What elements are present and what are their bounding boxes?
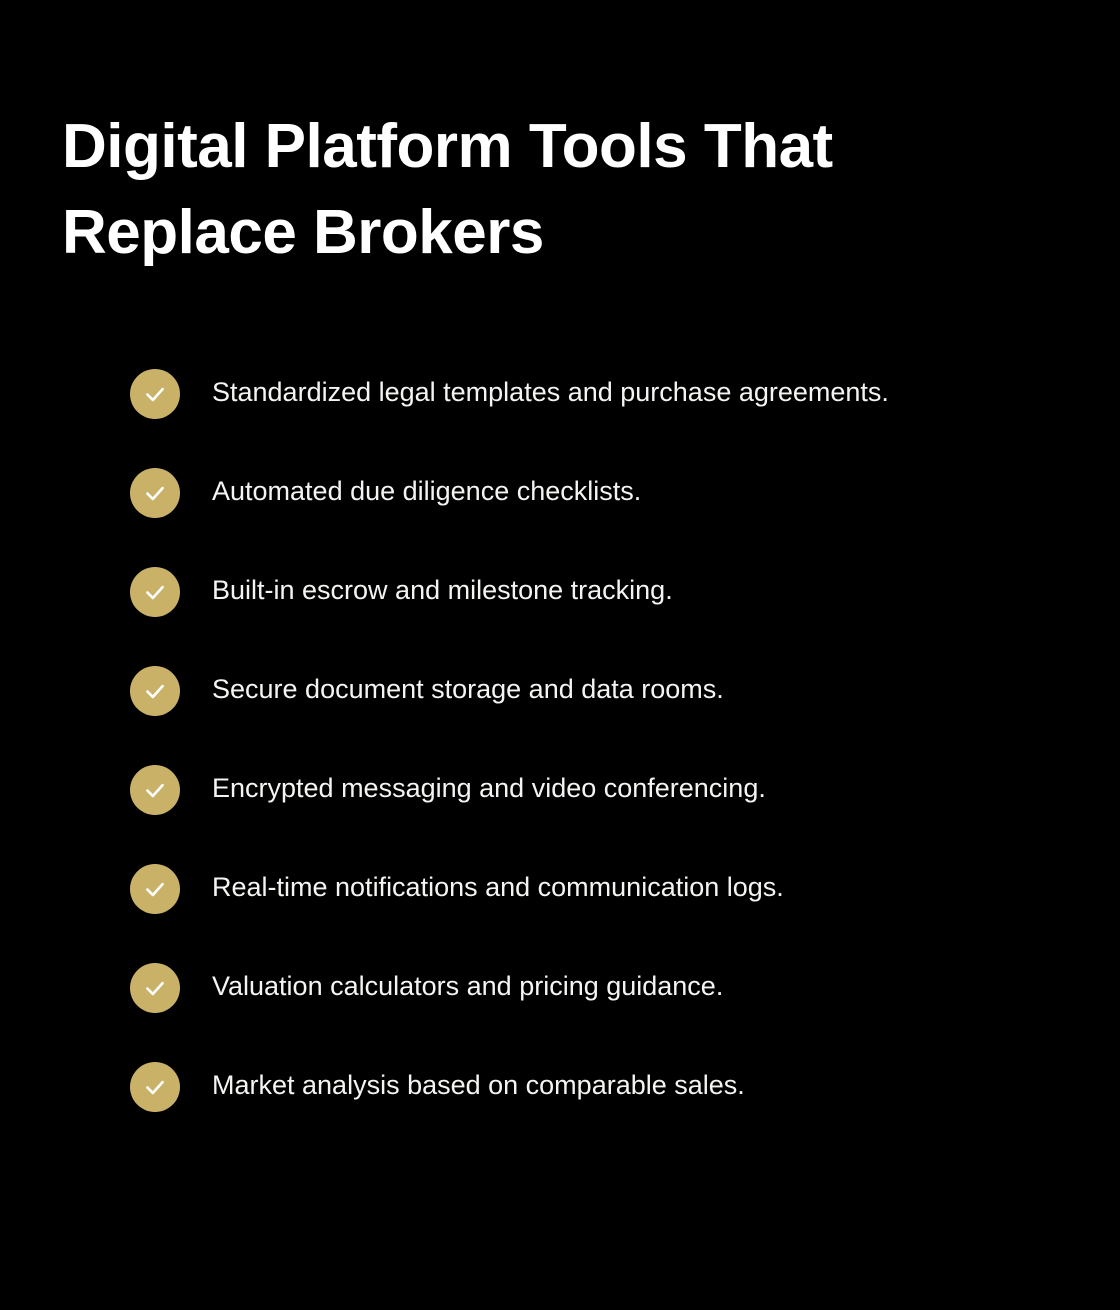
check-icon	[130, 567, 180, 617]
check-icon	[130, 765, 180, 815]
page-root: Digital Platform Tools That Replace Brok…	[0, 0, 1120, 1310]
check-icon	[130, 1062, 180, 1112]
list-item-label: Market analysis based on comparable sale…	[212, 1061, 1010, 1107]
page-title: Digital Platform Tools That Replace Brok…	[62, 104, 962, 276]
list-item-label: Standardized legal templates and purchas…	[212, 368, 1010, 414]
feature-checklist: Standardized legal templates and purchas…	[130, 368, 1010, 1112]
check-icon	[130, 468, 180, 518]
list-item: Market analysis based on comparable sale…	[130, 1061, 1010, 1112]
check-icon	[130, 864, 180, 914]
list-item-label: Built-in escrow and milestone tracking.	[212, 566, 1010, 612]
list-item: Valuation calculators and pricing guidan…	[130, 962, 1010, 1013]
list-item-label: Encrypted messaging and video conferenci…	[212, 764, 1010, 810]
list-item: Automated due diligence checklists.	[130, 467, 1010, 518]
list-item: Secure document storage and data rooms.	[130, 665, 1010, 716]
list-item-label: Real-time notifications and communicatio…	[212, 863, 1010, 909]
list-item-label: Automated due diligence checklists.	[212, 467, 1010, 513]
list-item-label: Secure document storage and data rooms.	[212, 665, 1010, 711]
check-icon	[130, 963, 180, 1013]
list-item: Encrypted messaging and video conferenci…	[130, 764, 1010, 815]
list-item: Real-time notifications and communicatio…	[130, 863, 1010, 914]
list-item-label: Valuation calculators and pricing guidan…	[212, 962, 1010, 1008]
list-item: Standardized legal templates and purchas…	[130, 368, 1010, 419]
check-icon	[130, 369, 180, 419]
list-item: Built-in escrow and milestone tracking.	[130, 566, 1010, 617]
check-icon	[130, 666, 180, 716]
